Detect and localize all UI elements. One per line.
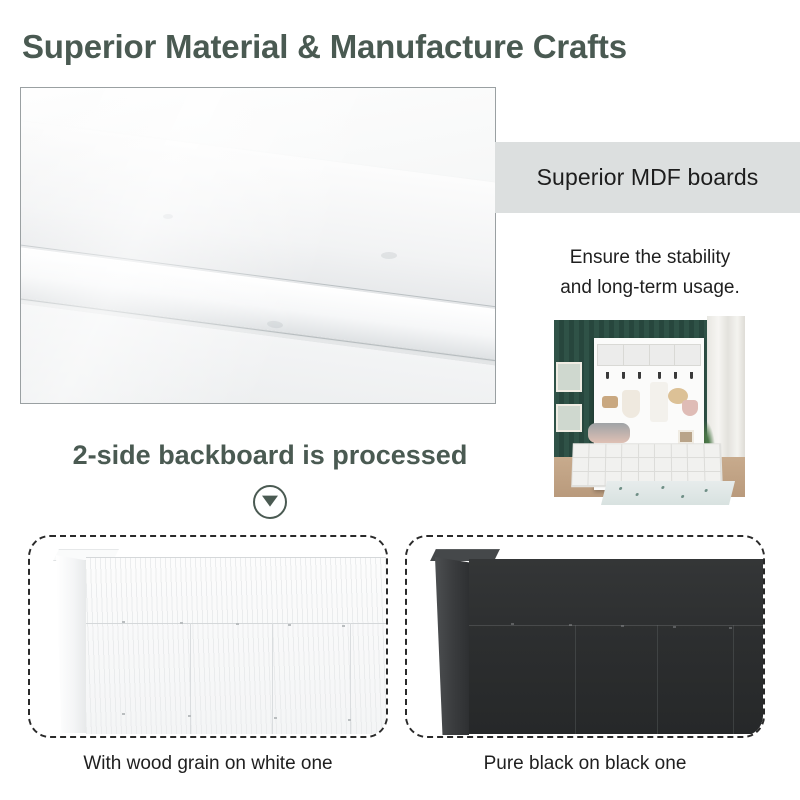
white-side-post: [56, 555, 86, 733]
board-speck: [381, 252, 397, 259]
mdf-boards-band: Superior MDF boards: [495, 142, 800, 213]
black-backboard-image: [407, 537, 763, 736]
black-backboard-panel: [405, 535, 765, 738]
black-side-post: [435, 557, 469, 735]
mdf-boards-label: Superior MDF boards: [537, 164, 759, 191]
hook-rail: [600, 372, 698, 376]
page-title: Superior Material & Manufacture Crafts: [22, 28, 778, 66]
black-panel-caption: Pure black on black one: [405, 753, 765, 775]
white-backboard-image: [30, 537, 386, 736]
hanging-bag-pink: [682, 400, 698, 416]
white-panel-caption: With wood grain on white one: [28, 753, 388, 775]
infographic-page: Superior Material & Manufacture Crafts S…: [0, 0, 800, 800]
chevron-down-icon: [253, 485, 287, 519]
white-backboard-panel: [28, 535, 388, 738]
hanging-bag-tan: [602, 396, 618, 408]
black-matte-board: [469, 559, 765, 734]
backboard-heading: 2-side backboard is processed: [20, 440, 520, 471]
board-surface: [21, 88, 495, 403]
white-grain-board: [86, 557, 388, 734]
shelf-photo-frame: [678, 430, 694, 444]
stability-copy-line-1: Ensure the stability: [520, 243, 780, 273]
upper-shelf-cubbies: [597, 344, 701, 366]
hanging-coat: [650, 382, 668, 422]
room-scene-photo: [546, 316, 745, 505]
stability-copy: Ensure the stability and long-term usage…: [520, 243, 780, 303]
wall-art-lower: [556, 404, 582, 432]
floor-rug: [601, 481, 735, 505]
wall-art-upper: [556, 362, 582, 392]
duffel-bag: [588, 423, 630, 443]
mdf-boards-photo: [20, 87, 496, 404]
stability-copy-line-2: and long-term usage.: [520, 273, 780, 303]
hanging-bag-cream: [622, 390, 640, 418]
